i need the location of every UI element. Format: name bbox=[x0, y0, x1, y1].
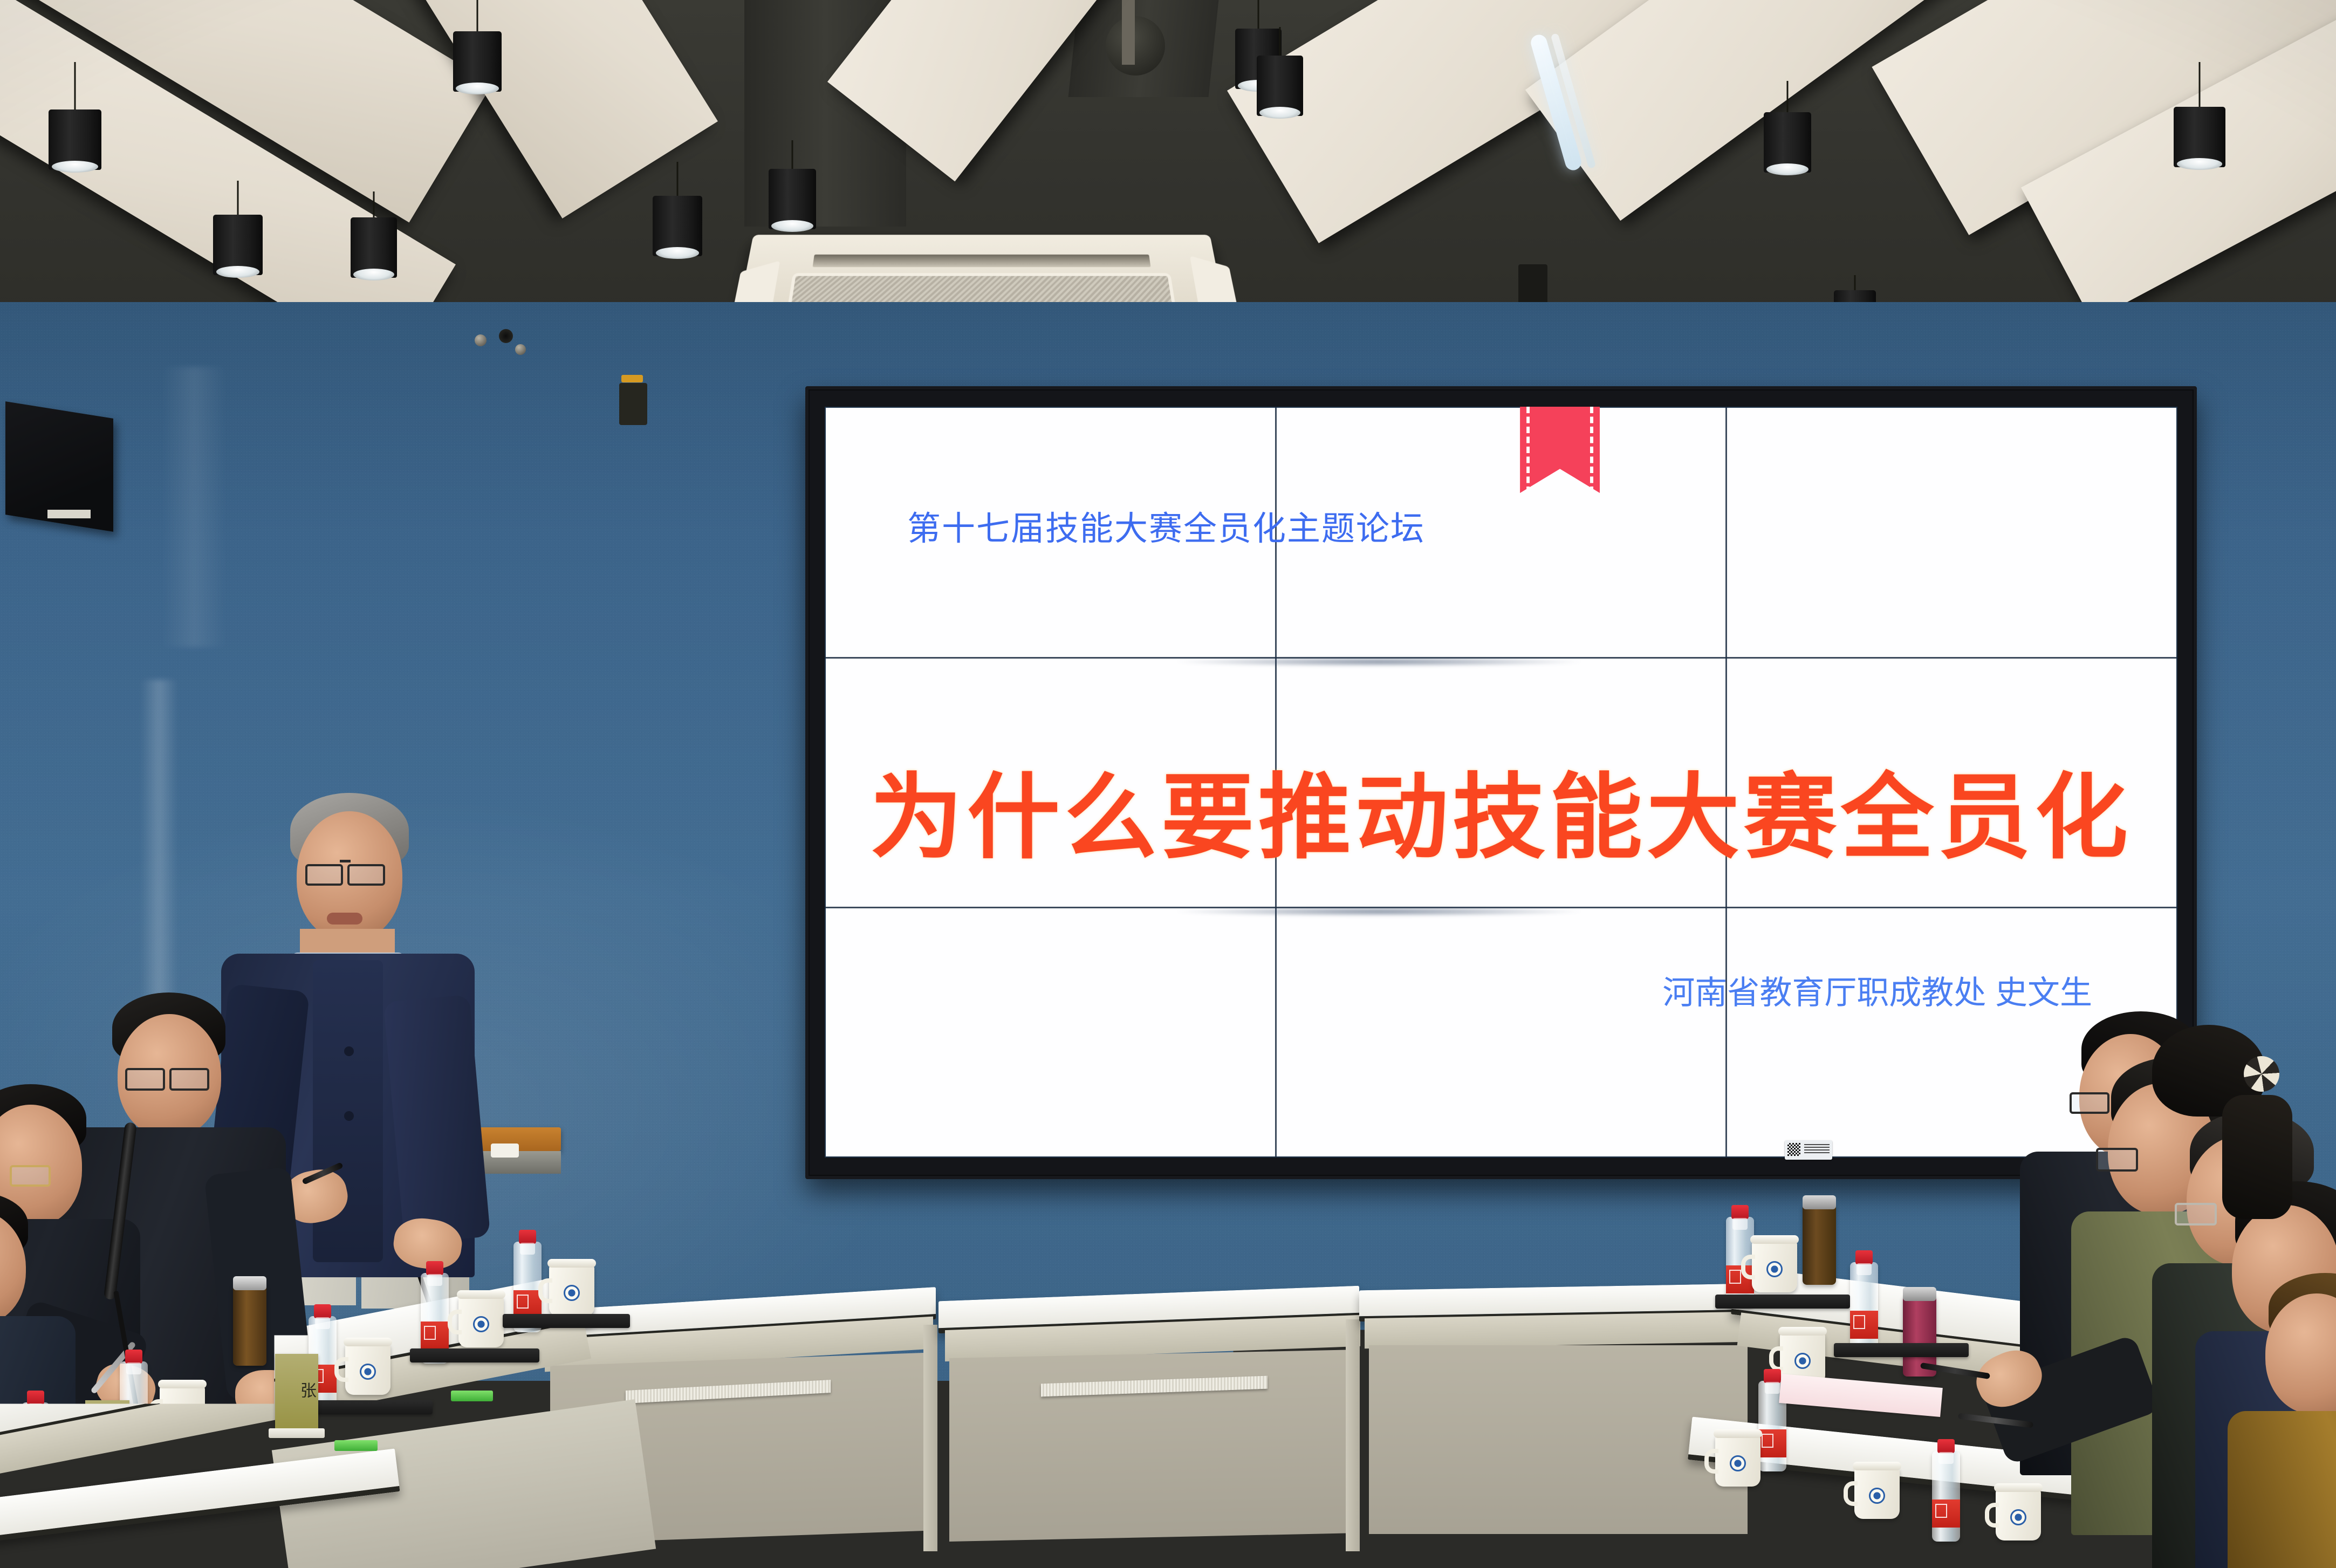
tea-cup bbox=[345, 1343, 391, 1395]
pendant-light bbox=[769, 140, 816, 229]
wall-light-reflection bbox=[162, 367, 227, 647]
green-marker bbox=[451, 1391, 493, 1401]
tea-cup bbox=[1715, 1435, 1760, 1487]
glasses-icon bbox=[169, 1068, 209, 1091]
glasses-bridge-icon bbox=[340, 860, 351, 862]
ribbon-decoration-icon bbox=[1520, 407, 1600, 493]
attendee-ponytail bbox=[2222, 1095, 2292, 1219]
table-leg bbox=[1346, 1319, 1360, 1551]
pendant-light bbox=[1764, 81, 1811, 173]
pendant-light bbox=[213, 181, 263, 275]
meeting-room-photo: 第十七届技能大赛全员化主题论坛 为什么要推动技能大赛全员化 河南省教育厅职成教处… bbox=[0, 0, 2336, 1568]
jacket-button bbox=[344, 1111, 354, 1121]
pipe-sleeve-icon bbox=[1122, 0, 1135, 65]
name-card-text: 史文生 bbox=[0, 1462, 36, 1532]
slide-title-text: 为什么要推动技能大赛全员化 bbox=[825, 742, 2177, 877]
water-bottle bbox=[1850, 1262, 1878, 1353]
table-modesty-panel bbox=[949, 1350, 1359, 1542]
wall-camera bbox=[619, 383, 647, 425]
slide-footer-text: 河南省教育厅职成教处 史文生 bbox=[1662, 967, 2092, 1014]
pendant-light bbox=[2174, 62, 2225, 167]
wall-fixture-icon bbox=[499, 329, 513, 343]
duct-pipe-icon bbox=[1106, 16, 1165, 76]
wall-light-reflection bbox=[140, 680, 178, 1014]
glasses-icon bbox=[305, 864, 343, 886]
wall-fixture-icon bbox=[475, 334, 487, 346]
item-tray bbox=[1715, 1295, 1850, 1309]
tea-cup bbox=[1996, 1489, 2041, 1540]
green-marker bbox=[0, 1543, 41, 1553]
slide-header-text: 第十七届技能大赛全员化主题论坛 bbox=[907, 501, 1425, 550]
item-tray bbox=[1834, 1343, 1969, 1357]
presenter-mouth bbox=[327, 913, 362, 925]
presentation-slide[interactable]: 第十七届技能大赛全员化主题论坛 为什么要推动技能大赛全员化 河南省教育厅职成教处… bbox=[825, 407, 2177, 1158]
pendant-light bbox=[453, 0, 502, 92]
jacket-button bbox=[344, 1046, 354, 1056]
glasses-icon bbox=[347, 864, 385, 886]
video-wall-display[interactable]: 第十七届技能大赛全员化主题论坛 为什么要推动技能大赛全员化 河南省教育厅职成教处… bbox=[805, 386, 2197, 1179]
tea-cup bbox=[549, 1264, 594, 1316]
item-tray bbox=[410, 1348, 539, 1362]
glasses-icon bbox=[2096, 1148, 2138, 1172]
pendant-light bbox=[49, 62, 101, 170]
tea-cup bbox=[1752, 1241, 1797, 1292]
attendee-right-6-back bbox=[2136, 1025, 2314, 1327]
name-card-text: 张 bbox=[275, 1359, 318, 1424]
thermos-flask bbox=[233, 1284, 266, 1366]
qr-code-label-icon bbox=[1785, 1140, 1832, 1160]
tea-cup bbox=[1854, 1467, 1900, 1519]
camera-cable-icon bbox=[621, 375, 643, 382]
wall-fixture-icon bbox=[515, 344, 526, 355]
water-bottle bbox=[1932, 1451, 1960, 1542]
name-card: 张 bbox=[275, 1354, 318, 1429]
green-marker bbox=[334, 1440, 378, 1451]
thermos-flask bbox=[1803, 1203, 1836, 1285]
pendant-light bbox=[653, 162, 702, 256]
tea-cup bbox=[458, 1296, 504, 1347]
glasses-icon bbox=[10, 1165, 51, 1187]
attendee-jacket bbox=[2228, 1411, 2336, 1568]
name-card: 史文生 bbox=[0, 1456, 36, 1537]
pendant-light bbox=[1257, 27, 1303, 116]
speaker-label bbox=[47, 510, 91, 518]
item-tray bbox=[503, 1314, 630, 1328]
hair-tie-icon bbox=[2244, 1056, 2279, 1092]
pendant-light bbox=[351, 191, 397, 278]
table-leg bbox=[923, 1325, 937, 1551]
green-marker bbox=[141, 1485, 186, 1496]
